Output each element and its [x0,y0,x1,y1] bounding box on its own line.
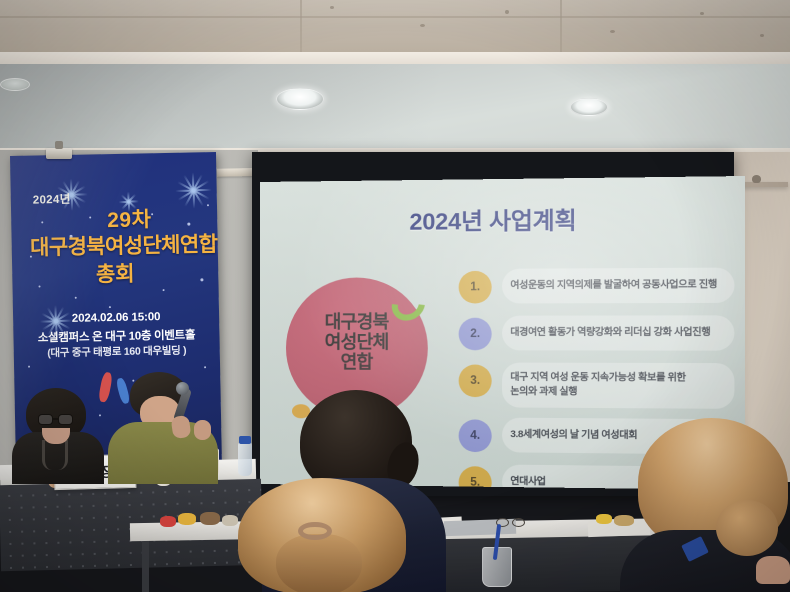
poster-venue: 소셜캠퍼스 온 대구 10층 이벤트홀 [13,326,219,346]
agenda-text-cont: 논의와 과제 실행 [510,385,685,400]
hair-bun [716,500,778,556]
poster-meeting-type: 총회 [12,256,219,290]
agenda-number: 4. [470,430,480,442]
list-item: 1. 여성운동의 지역의제를 발굴하여 공동사업으로 진행 [459,268,735,314]
list-item: 3. 대구 지역 여성 운동 지속가능성 확보를 위한 논의와 과제 실행 [459,362,735,417]
agenda-text: 3.8세계여성의 날 기념 여성대회 [510,428,637,443]
agenda-text: 대구 지역 여성 운동 지속가능성 확보를 위한 [510,371,685,386]
agenda-number: 1. [470,281,480,293]
ponytail [276,534,362,592]
ceiling-panel [0,64,790,152]
poster-address: (대구 중구 태평로 160 대우빌딩 ) [14,342,220,361]
wall-hook-icon [752,175,761,183]
brand-line-3: 연합 [290,352,424,373]
water-bottle [238,442,252,476]
list-item: 2. 대경여연 활동가 역량강화와 리더십 강화 사업진행 [459,315,735,361]
agenda-number-badge: 5. [459,466,492,490]
agenda-number: 2. [470,328,480,340]
agenda-number-badge: 3. [459,365,492,398]
agenda-text-pill: 대구 지역 여성 운동 지속가능성 확보를 위한 논의와 과제 실행 [502,363,734,409]
agenda-number-badge: 2. [459,318,492,351]
ceiling-downlight [570,98,608,116]
brand-logo-text: 대구경북 여성단체 연합 [290,312,424,373]
brand-line-1: 대구경북 [290,312,424,332]
snack-item [178,513,196,525]
firework-burst-icon [118,192,138,212]
agenda-text: 여성운동의 지역의제를 발굴하여 공동사업으로 진행 [510,278,717,293]
audience-hand [756,556,790,584]
snack-item [160,516,176,527]
firework-burst-icon [39,305,72,338]
agenda-number-badge: 1. [459,271,492,304]
lanyard [42,440,68,470]
poster-organization: 대구경북여성단체연합 [17,228,222,262]
bottle-cap-icon [239,436,251,444]
table-leg [142,538,149,592]
audience-center-front [216,478,428,592]
agenda-text: 대경여연 활동가 역량강화와 리더십 강화 사업진행 [510,326,710,340]
poster-clamp-icon [46,148,72,159]
brand-line-2: 여성단체 [290,332,424,352]
ceiling-downlight [276,88,324,110]
panelist-right [108,372,218,482]
agenda-text-pill: 대경여연 활동가 역량강화와 리더십 강화 사업진행 [502,315,734,350]
hair-tie-icon [298,522,332,540]
poster-year: 2024년 [33,191,71,208]
slide-title: 2024년 사업계획 [409,201,576,237]
snack-item [596,514,612,524]
poster-datetime: 2024.02.06 15:00 [13,310,219,326]
poster-edition: 29차 [107,203,152,234]
agenda-number: 3. [470,375,480,387]
panelist-left [12,388,104,480]
presentation-photo-scene: 2024년 29차 대구경북여성단체연합 총회 2024.02.06 15:00… [0,0,790,592]
firework-burst-icon [174,172,211,209]
ceiling-upper-slab [0,0,790,58]
agenda-text-pill: 여성운동의 지역의제를 발굴하여 공동사업으로 진행 [502,268,734,304]
firework-burst-icon [54,179,87,212]
ceiling-downlight [0,78,30,91]
agenda-number-badge: 4. [459,419,492,452]
